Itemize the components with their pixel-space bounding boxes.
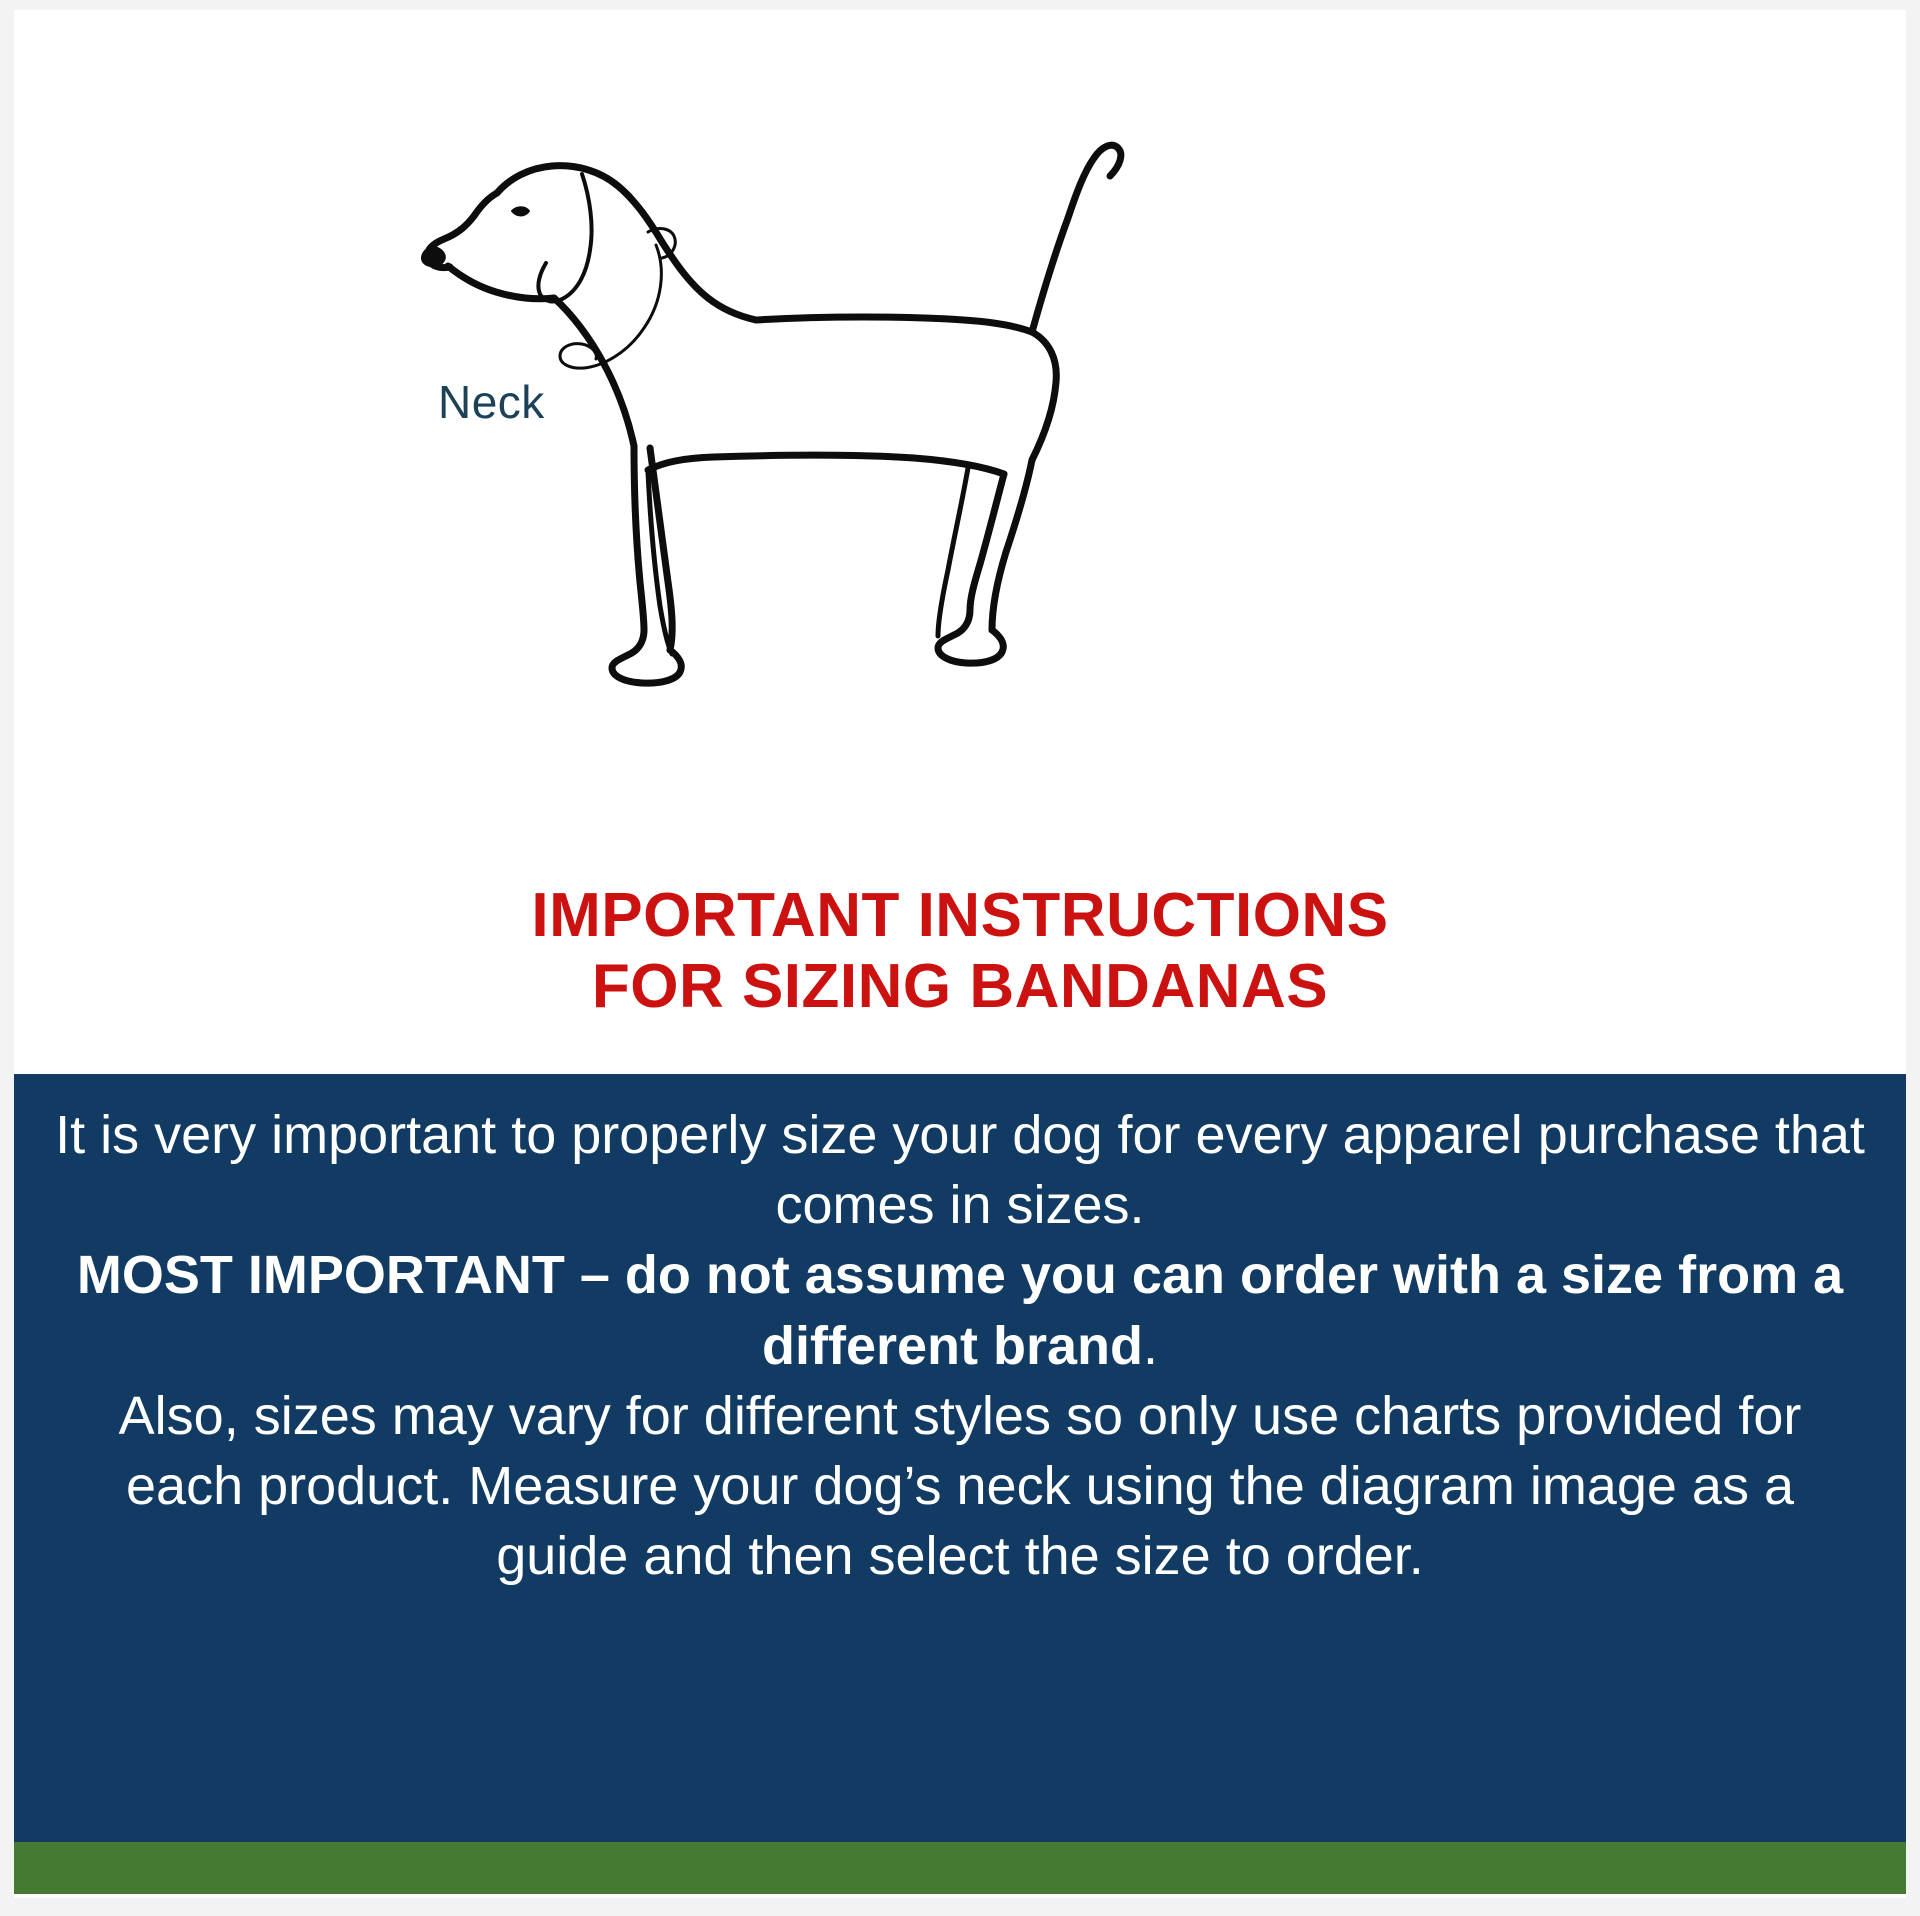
footer-accent-bar [14,1842,1906,1894]
page-title: IMPORTANT INSTRUCTIONS FOR SIZING BANDAN… [14,880,1906,1023]
page-title-line-1: IMPORTANT INSTRUCTIONS [14,880,1906,951]
instruction-paragraph-2: MOST IMPORTANT – do not assume you can o… [54,1240,1866,1380]
size-guide-page: Neck IMPORTANT INSTRUCTIONS FOR SIZING B… [0,0,1920,1916]
instruction-paragraph-3: Also, sizes may vary for different style… [54,1381,1866,1592]
neck-measurement-label: Neck [438,379,545,425]
instruction-paragraph-1: It is very important to properly size yo… [54,1100,1866,1240]
instructions-panel: It is very important to properly size yo… [14,1074,1906,1842]
instruction-paragraph-2-tail: . [1143,1316,1158,1376]
page-title-line-2: FOR SIZING BANDANAS [14,951,1906,1022]
instruction-paragraph-2-bold: MOST IMPORTANT – do not assume you can o… [77,1245,1843,1375]
